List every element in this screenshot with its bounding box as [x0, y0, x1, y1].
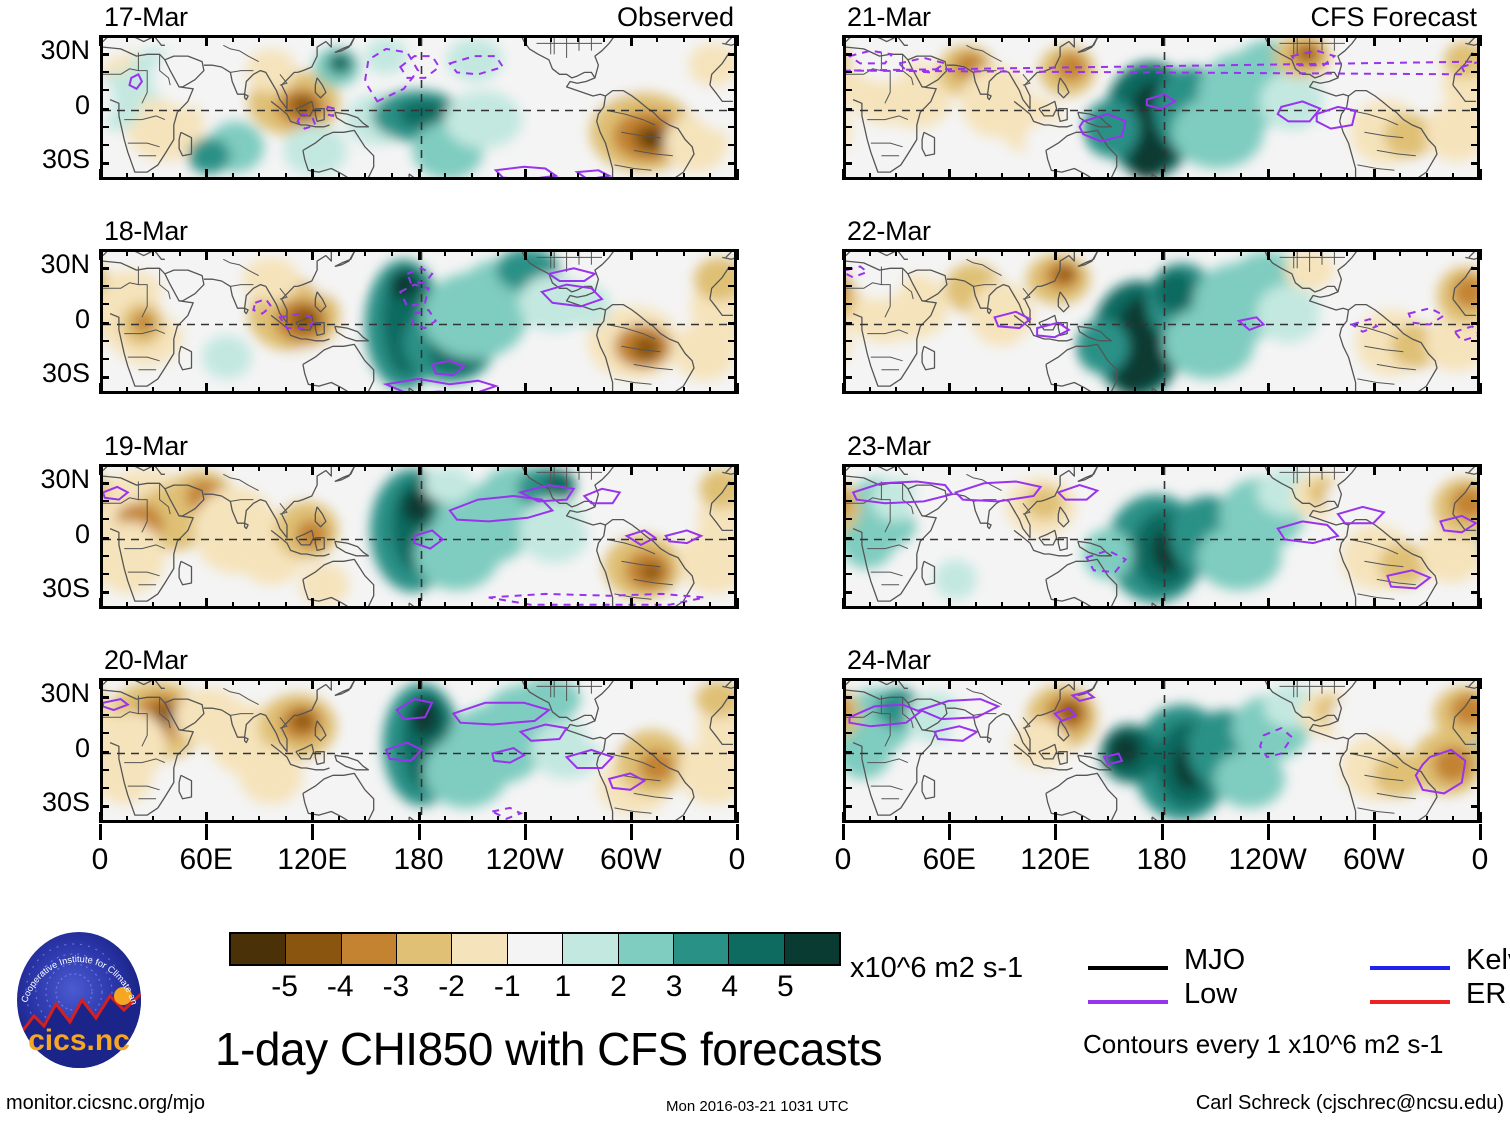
y-tick-mark [843, 162, 852, 165]
x-tick-mark [1054, 35, 1057, 46]
x-tick-label: 120W [1208, 843, 1328, 877]
map-plot-area [843, 464, 1480, 609]
x-tick-mark [736, 678, 739, 689]
x-tick-mark [179, 602, 181, 609]
x-tick-mark [338, 464, 340, 471]
x-tick-mark [922, 816, 924, 823]
x-tick-mark [975, 387, 977, 394]
x-tick-mark [1001, 816, 1003, 823]
x-tick-mark [842, 464, 845, 475]
legend-note: Contours every 1 x10^6 m2 s-1 [1083, 1029, 1443, 1060]
x-tick-mark [1054, 169, 1057, 180]
x-tick-mark [736, 812, 739, 823]
x-tick-mark [736, 383, 739, 394]
x-tick-mark [418, 383, 421, 394]
x-tick-mark [524, 169, 527, 180]
x-tick-mark [895, 602, 897, 609]
x-tick-mark [258, 602, 260, 609]
x-tick-label: 0 [783, 843, 903, 877]
x-tick-mark [922, 387, 924, 394]
panel-date-label: 21-Mar [847, 2, 931, 33]
y-tick-mark [843, 89, 852, 91]
x-tick-mark [1320, 249, 1322, 256]
x-tick-mark [656, 816, 658, 823]
x-tick-mark [1028, 35, 1030, 42]
x-tick-mark [285, 602, 287, 609]
y-tick-mark [100, 805, 109, 808]
footer-author[interactable]: Carl Schreck (cjschrec@ncsu.edu) [1196, 1092, 1504, 1115]
x-tick-mark [232, 602, 234, 609]
y-tick-mark [1471, 787, 1480, 789]
x-tick-mark [497, 387, 499, 394]
x-axis-major-tick [1054, 824, 1057, 840]
y-tick-mark [728, 732, 737, 734]
x-tick-mark [975, 35, 977, 42]
x-tick-mark [1293, 387, 1295, 394]
x-tick-mark [1187, 173, 1189, 180]
y-tick-label: 30S [4, 787, 90, 818]
x-tick-mark [1426, 35, 1428, 42]
x-tick-mark [1346, 35, 1348, 42]
y-tick-mark [100, 787, 109, 789]
x-tick-mark [842, 35, 845, 46]
colorbar-swatch [674, 934, 729, 964]
y-tick-mark [100, 376, 109, 379]
x-tick-mark [948, 249, 951, 260]
x-tick-mark [1320, 602, 1322, 609]
x-tick-mark [1452, 678, 1454, 685]
x-tick-mark [1028, 678, 1030, 685]
x-tick-mark [471, 602, 473, 609]
x-tick-mark [1081, 173, 1083, 180]
x-tick-mark [1107, 816, 1109, 823]
x-tick-label: 60E [146, 843, 266, 877]
x-tick-mark [1346, 678, 1348, 685]
legend-line-swatch [1088, 1000, 1168, 1004]
x-tick-mark [1452, 35, 1454, 42]
x-tick-mark [869, 464, 871, 471]
x-tick-mark [869, 602, 871, 609]
y-tick-mark [100, 696, 109, 699]
x-tick-mark [232, 35, 234, 42]
y-tick-mark [728, 89, 737, 91]
x-tick-mark [444, 387, 446, 394]
x-tick-mark [1452, 173, 1454, 180]
y-tick-mark [1471, 500, 1480, 502]
panel-date-label: 24-Mar [847, 645, 931, 676]
y-tick-mark [728, 53, 737, 56]
x-tick-mark [1320, 816, 1322, 823]
x-tick-mark [550, 387, 552, 394]
x-tick-mark [869, 816, 871, 823]
panel-date-label: 23-Mar [847, 431, 931, 462]
x-tick-label: 0 [1420, 843, 1510, 877]
y-tick-label: 0 [4, 519, 90, 550]
x-tick-mark [895, 678, 897, 685]
x-tick-mark [922, 464, 924, 471]
x-tick-label: 120E [252, 843, 372, 877]
x-tick-mark [152, 602, 154, 609]
x-tick-mark [1479, 383, 1482, 394]
x-tick-mark [126, 249, 128, 256]
x-tick-mark [1346, 816, 1348, 823]
x-tick-mark [1028, 602, 1030, 609]
x-tick-mark [895, 173, 897, 180]
x-tick-mark [497, 173, 499, 180]
x-tick-mark [1214, 249, 1216, 256]
x-tick-mark [391, 602, 393, 609]
y-tick-mark [1471, 303, 1480, 305]
y-tick-mark [728, 805, 737, 808]
y-tick-mark [843, 732, 852, 734]
x-tick-mark [1452, 816, 1454, 823]
x-tick-mark [948, 598, 951, 609]
x-tick-mark [1081, 35, 1083, 42]
y-tick-mark [843, 358, 852, 360]
map-plot-area [843, 249, 1480, 394]
y-tick-mark [728, 267, 737, 270]
x-tick-mark [311, 383, 314, 394]
x-tick-mark [1107, 678, 1109, 685]
x-axis-major-tick [99, 824, 102, 840]
x-tick-mark [364, 816, 366, 823]
x-tick-mark [232, 173, 234, 180]
x-tick-mark [975, 249, 977, 256]
x-tick-mark [205, 598, 208, 609]
panel-date-label: 20-Mar [104, 645, 188, 676]
y-tick-mark [1471, 751, 1480, 754]
x-tick-mark [577, 602, 579, 609]
x-tick-mark [311, 812, 314, 823]
y-tick-mark [843, 340, 852, 342]
x-tick-mark [1161, 383, 1164, 394]
x-tick-mark [1107, 387, 1109, 394]
y-tick-mark [728, 573, 737, 575]
x-tick-mark [1107, 173, 1109, 180]
x-tick-mark [1426, 173, 1428, 180]
x-tick-mark [577, 387, 579, 394]
x-axis-major-tick [948, 824, 951, 840]
colorbar-swatch [619, 934, 674, 964]
y-tick-mark [1471, 108, 1480, 111]
footer-timestamp: Mon 2016-03-21 1031 UTC [666, 1098, 849, 1115]
x-tick-mark [630, 383, 633, 394]
x-tick-mark [232, 249, 234, 256]
x-tick-mark [126, 678, 128, 685]
x-tick-mark [126, 35, 128, 42]
x-tick-mark [1187, 249, 1189, 256]
x-tick-mark [471, 249, 473, 256]
legend-line-swatch [1088, 966, 1168, 970]
x-tick-mark [842, 169, 845, 180]
y-tick-mark [728, 358, 737, 360]
y-tick-label: 30S [4, 358, 90, 389]
x-tick-mark [550, 173, 552, 180]
x-tick-mark [842, 383, 845, 394]
x-tick-mark [179, 816, 181, 823]
x-tick-mark [895, 35, 897, 42]
x-tick-mark [869, 35, 871, 42]
y-tick-mark [728, 303, 737, 305]
y-tick-label: 30S [4, 144, 90, 175]
colorbar-tick-label: 5 [745, 970, 825, 1004]
legend-label: Kelvin x2 [1466, 944, 1510, 977]
x-tick-mark [1426, 816, 1428, 823]
x-tick-mark [258, 35, 260, 42]
x-tick-mark [1479, 464, 1482, 475]
y-tick-label: 30N [4, 249, 90, 280]
x-tick-mark [736, 464, 739, 475]
y-tick-mark [843, 696, 852, 699]
x-tick-mark [1346, 173, 1348, 180]
x-tick-mark [1187, 464, 1189, 471]
x-tick-mark [258, 816, 260, 823]
x-tick-mark [285, 249, 287, 256]
x-tick-mark [1134, 816, 1136, 823]
x-axis-major-tick [736, 824, 739, 840]
x-tick-mark [1028, 816, 1030, 823]
x-tick-mark [497, 35, 499, 42]
x-tick-mark [1134, 602, 1136, 609]
x-tick-mark [1054, 383, 1057, 394]
x-tick-mark [152, 678, 154, 685]
x-tick-mark [975, 464, 977, 471]
x-tick-mark [550, 464, 552, 471]
x-tick-mark [524, 35, 527, 46]
x-tick-mark [126, 816, 128, 823]
x-tick-mark [126, 173, 128, 180]
x-tick-mark [1267, 464, 1270, 475]
y-tick-mark [728, 555, 737, 557]
legend-line-swatch [1370, 1000, 1450, 1004]
y-tick-label: 30N [4, 678, 90, 709]
x-tick-mark [258, 387, 260, 394]
x-tick-mark [444, 816, 446, 823]
x-tick-mark [1240, 602, 1242, 609]
x-tick-mark [126, 602, 128, 609]
colorbar-swatch [231, 934, 286, 964]
x-tick-mark [1293, 464, 1295, 471]
y-tick-mark [100, 573, 109, 575]
y-tick-mark [100, 555, 109, 557]
x-axis-major-tick [311, 824, 314, 840]
x-tick-mark [1028, 173, 1030, 180]
colorbar-swatch [452, 934, 507, 964]
y-tick-label: 30S [4, 573, 90, 604]
y-tick-label: 0 [4, 304, 90, 335]
x-tick-mark [550, 35, 552, 42]
x-tick-mark [1373, 464, 1376, 475]
x-tick-mark [285, 816, 287, 823]
x-tick-mark [311, 249, 314, 260]
y-tick-mark [843, 482, 852, 485]
column-header-label: Observed [617, 2, 734, 33]
x-tick-mark [524, 812, 527, 823]
y-tick-label: 30N [4, 35, 90, 66]
x-tick-mark [1161, 464, 1164, 475]
x-tick-mark [444, 173, 446, 180]
x-tick-mark [1346, 249, 1348, 256]
y-tick-mark [728, 751, 737, 754]
x-tick-mark [471, 816, 473, 823]
x-tick-mark [364, 464, 366, 471]
x-tick-mark [1399, 464, 1401, 471]
x-tick-mark [1214, 602, 1216, 609]
y-tick-mark [100, 267, 109, 270]
y-tick-mark [100, 500, 109, 502]
x-tick-mark [205, 35, 208, 46]
x-tick-mark [1161, 598, 1164, 609]
x-tick-mark [736, 35, 739, 46]
x-tick-mark [338, 249, 340, 256]
x-tick-label: 0 [677, 843, 797, 877]
x-tick-mark [311, 464, 314, 475]
x-tick-mark [1267, 812, 1270, 823]
x-tick-mark [630, 598, 633, 609]
y-tick-mark [1471, 322, 1480, 325]
y-tick-mark [100, 769, 109, 771]
y-tick-mark [1471, 144, 1480, 146]
y-tick-mark [1471, 482, 1480, 485]
x-tick-mark [1028, 464, 1030, 471]
x-tick-mark [471, 678, 473, 685]
colorbar-swatch [508, 934, 563, 964]
x-tick-mark [1293, 816, 1295, 823]
x-tick-mark [709, 387, 711, 394]
x-tick-mark [99, 678, 102, 689]
x-tick-mark [1293, 173, 1295, 180]
cics-nc-logo: Cooperative Institute for Climate and Sa… [14, 930, 144, 1070]
x-tick-mark [232, 678, 234, 685]
x-tick-mark [1479, 249, 1482, 260]
x-tick-mark [418, 812, 421, 823]
x-tick-mark [205, 812, 208, 823]
x-tick-mark [364, 678, 366, 685]
x-tick-mark [656, 678, 658, 685]
y-tick-mark [728, 769, 737, 771]
x-tick-mark [1267, 598, 1270, 609]
x-tick-mark [1214, 678, 1216, 685]
legend-label: MJO [1184, 944, 1245, 977]
x-tick-mark [709, 678, 711, 685]
x-tick-mark [1293, 602, 1295, 609]
x-tick-mark [948, 812, 951, 823]
x-tick-mark [1293, 249, 1295, 256]
x-tick-mark [922, 35, 924, 42]
y-tick-mark [100, 714, 109, 716]
x-tick-mark [444, 678, 446, 685]
x-tick-mark [1054, 464, 1057, 475]
x-tick-mark [418, 464, 421, 475]
x-tick-mark [1320, 387, 1322, 394]
y-tick-mark [1471, 162, 1480, 165]
y-tick-mark [843, 322, 852, 325]
x-tick-mark [1293, 35, 1295, 42]
y-tick-mark [728, 787, 737, 789]
x-tick-mark [1479, 598, 1482, 609]
x-tick-mark [1001, 249, 1003, 256]
x-tick-mark [709, 249, 711, 256]
x-tick-mark [99, 598, 102, 609]
footer-url[interactable]: monitor.cicsnc.org/mjo [6, 1092, 205, 1115]
x-tick-mark [232, 387, 234, 394]
x-tick-mark [603, 35, 605, 42]
y-tick-mark [843, 71, 852, 73]
x-tick-mark [1346, 464, 1348, 471]
x-tick-mark [444, 35, 446, 42]
x-tick-mark [179, 35, 181, 42]
x-tick-mark [311, 169, 314, 180]
x-tick-mark [152, 464, 154, 471]
x-tick-mark [895, 464, 897, 471]
colorbar-swatch [785, 934, 839, 964]
y-tick-mark [1471, 285, 1480, 287]
x-tick-mark [1001, 387, 1003, 394]
x-tick-mark [179, 464, 181, 471]
x-tick-mark [948, 678, 951, 689]
y-tick-mark [1471, 358, 1480, 360]
x-tick-mark [683, 816, 685, 823]
x-tick-mark [1161, 35, 1164, 46]
y-tick-mark [1471, 573, 1480, 575]
x-tick-mark [1054, 249, 1057, 260]
x-tick-mark [391, 173, 393, 180]
x-tick-mark [630, 812, 633, 823]
x-tick-mark [524, 598, 527, 609]
x-tick-mark [126, 387, 128, 394]
y-tick-mark [728, 537, 737, 540]
y-tick-mark [1471, 537, 1480, 540]
x-tick-mark [1399, 173, 1401, 180]
x-tick-mark [1399, 249, 1401, 256]
x-tick-mark [603, 249, 605, 256]
x-tick-mark [1214, 35, 1216, 42]
logo-wordmark: cics.nc [28, 1024, 130, 1057]
legend-line-swatch [1370, 966, 1450, 970]
x-tick-mark [1452, 602, 1454, 609]
x-tick-mark [869, 387, 871, 394]
y-tick-mark [1471, 769, 1480, 771]
x-tick-mark [842, 598, 845, 609]
map-svg [103, 252, 737, 394]
x-tick-mark [285, 464, 287, 471]
x-tick-mark [922, 249, 924, 256]
colorbar-swatch [563, 934, 618, 964]
y-tick-mark [100, 358, 109, 360]
x-tick-mark [842, 249, 845, 260]
x-tick-label: 60W [571, 843, 691, 877]
x-tick-mark [948, 169, 951, 180]
x-tick-mark [630, 249, 633, 260]
x-tick-label: 120E [995, 843, 1115, 877]
x-tick-mark [1081, 602, 1083, 609]
x-tick-mark [1240, 173, 1242, 180]
x-tick-mark [1320, 35, 1322, 42]
x-tick-mark [1214, 387, 1216, 394]
y-tick-mark [100, 144, 109, 146]
x-tick-mark [1107, 602, 1109, 609]
x-tick-mark [338, 816, 340, 823]
panel-date-label: 18-Mar [104, 216, 188, 247]
x-axis-major-tick [1267, 824, 1270, 840]
x-tick-mark [1187, 35, 1189, 42]
x-tick-mark [842, 812, 845, 823]
y-tick-mark [100, 751, 109, 754]
x-tick-mark [205, 464, 208, 475]
x-tick-mark [311, 598, 314, 609]
x-tick-mark [1346, 602, 1348, 609]
x-tick-label: 120W [465, 843, 585, 877]
